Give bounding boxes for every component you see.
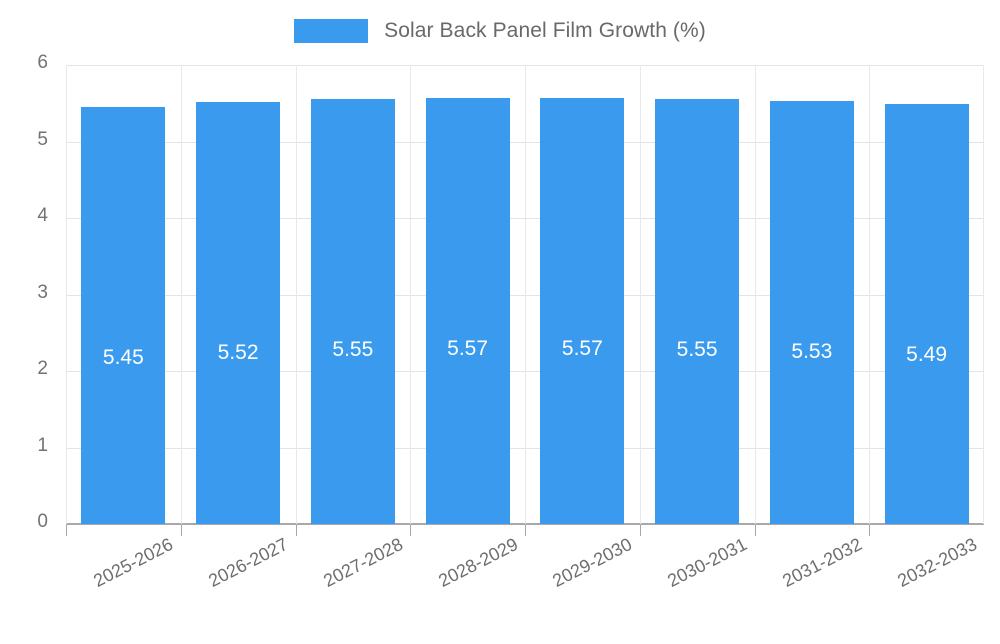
legend-color-swatch — [294, 19, 368, 43]
x-tick-mark-5 — [640, 524, 641, 536]
x-label-2032-2033: 2032-2033 — [792, 534, 980, 644]
y-tick-label: 5 — [37, 129, 48, 151]
x-tick-mark-0 — [66, 524, 67, 536]
bar-2025-2026[interactable]: 5.45 — [81, 107, 165, 524]
gridline-x-4 — [525, 65, 526, 524]
bar-value-label: 5.49 — [885, 344, 969, 365]
bar-2030-2031[interactable]: 5.55 — [655, 99, 739, 524]
bar-2028-2029[interactable]: 5.57 — [426, 98, 510, 524]
bar-value-label: 5.55 — [311, 339, 395, 360]
y-tick-label: 0 — [37, 511, 48, 533]
gridline-x-5 — [640, 65, 641, 524]
gridline-x-6 — [755, 65, 756, 524]
bar-value-label: 5.45 — [81, 347, 165, 368]
bar-2029-2030[interactable]: 5.57 — [540, 98, 624, 524]
y-tick-label: 1 — [37, 435, 48, 457]
x-tick-mark-2 — [296, 524, 297, 536]
gridline-x-7 — [869, 65, 870, 524]
x-tick-mark-4 — [525, 524, 526, 536]
bar-value-label: 5.55 — [655, 339, 739, 360]
gridline-x-8 — [983, 65, 984, 524]
x-tick-mark-7 — [869, 524, 870, 536]
y-tick-label: 2 — [37, 358, 48, 380]
gridline-x-0 — [66, 65, 67, 524]
bar-2026-2027[interactable]: 5.52 — [196, 102, 280, 524]
gridline-x-2 — [296, 65, 297, 524]
y-tick-label: 6 — [37, 52, 48, 74]
chart-legend: Solar Back Panel Film Growth (%) — [0, 14, 1000, 48]
x-tick-mark-1 — [181, 524, 182, 536]
x-label-2029-2030: 2029-2030 — [448, 534, 636, 644]
gridline-x-3 — [410, 65, 411, 524]
y-tick-label: 4 — [37, 205, 48, 227]
bar-value-label: 5.53 — [770, 341, 854, 362]
x-label-2028-2029: 2028-2029 — [333, 534, 521, 644]
legend-series-label: Solar Back Panel Film Growth (%) — [384, 19, 706, 43]
y-tick-label: 3 — [37, 282, 48, 304]
bar-2031-2032[interactable]: 5.53 — [770, 101, 854, 524]
bar-value-label: 5.57 — [426, 338, 510, 359]
gridline-x-1 — [181, 65, 182, 524]
bar-value-label: 5.52 — [196, 342, 280, 363]
x-label-2025-2026: 2025-2026 — [0, 534, 177, 644]
plot-area: 0123456 5.455.525.555.575.575.555.535.49 — [66, 65, 984, 524]
bar-2032-2033[interactable]: 5.49 — [885, 104, 969, 524]
x-tick-mark-6 — [755, 524, 756, 536]
x-tick-mark-3 — [410, 524, 411, 536]
bar-value-label: 5.57 — [540, 338, 624, 359]
bar-2027-2028[interactable]: 5.55 — [311, 99, 395, 524]
